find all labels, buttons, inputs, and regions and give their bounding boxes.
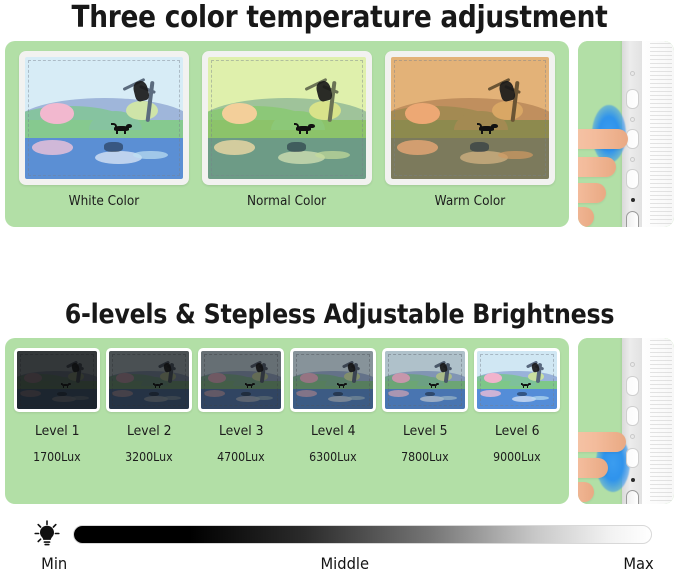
lightbulb-icon <box>34 520 60 548</box>
slider-label-min: Min <box>41 554 67 573</box>
brightness-slider-row[interactable] <box>0 520 679 548</box>
device-speaker-grille-2 <box>650 338 672 504</box>
color-temperature-row: White ColorNormal ColorWarm Color <box>0 41 679 227</box>
brightness-haze-overlay <box>385 351 465 409</box>
device-illustration <box>578 41 674 227</box>
brightness-haze-overlay <box>293 351 373 409</box>
landscape-artwork <box>25 57 183 179</box>
brightness-haze-overlay <box>17 351 97 409</box>
brightness-level-lux: 3200Lux <box>125 450 173 464</box>
brightness-level-card[interactable]: Level 11700Lux <box>14 348 100 504</box>
slider-label-middle: Middle <box>91 554 600 573</box>
photo-frame <box>19 51 189 185</box>
brightness-sample-image <box>201 351 281 409</box>
brightness-haze-overlay <box>201 351 281 409</box>
landscape-artwork <box>391 57 549 179</box>
brightness-level-lux: 7800Lux <box>401 450 449 464</box>
brightness-level-lux: 9000Lux <box>493 450 541 464</box>
device-hole-icon-2 <box>630 362 635 367</box>
level-photo-frame <box>198 348 284 412</box>
brightness-level-card[interactable]: Level 23200Lux <box>106 348 192 504</box>
color-temperature-label: White Color <box>69 194 140 209</box>
device-hole-icon <box>630 71 635 76</box>
level-photo-frame <box>382 348 468 412</box>
level-photo-frame <box>14 348 100 412</box>
device-panel-brightness <box>578 338 674 504</box>
hand-icon-2 <box>578 398 640 504</box>
brightness-row: Level 11700LuxLevel 23200LuxLevel 34700L… <box>0 338 679 504</box>
color-temperature-label: Warm Color <box>434 194 505 209</box>
device-button-1-b[interactable] <box>626 376 639 396</box>
brightness-slider-track[interactable] <box>73 525 652 544</box>
brightness-level-name: Level 5 <box>403 423 448 439</box>
color-sample-image <box>25 57 183 179</box>
color-temperature-card[interactable]: White Color <box>19 51 189 209</box>
brightness-level-list: Level 11700LuxLevel 23200LuxLevel 34700L… <box>5 338 569 504</box>
brightness-level-card[interactable]: Level 57800Lux <box>382 348 468 504</box>
brightness-level-card[interactable]: Level 34700Lux <box>198 348 284 504</box>
brightness-sample-image <box>385 351 465 409</box>
level-photo-frame <box>290 348 376 412</box>
slider-label-max: Max <box>623 554 653 573</box>
brightness-panel: Level 11700LuxLevel 23200LuxLevel 34700L… <box>5 338 569 504</box>
brightness-level-name: Level 3 <box>219 423 264 439</box>
section-title-brightness: 6-levels & Stepless Adjustable Brightnes… <box>41 299 639 330</box>
slider-labels: Min Middle Max <box>0 554 679 573</box>
brightness-level-name: Level 6 <box>495 423 540 439</box>
photo-frame <box>202 51 372 185</box>
brightness-level-name: Level 4 <box>311 423 356 439</box>
device-panel-color-temperature <box>578 41 674 227</box>
device-illustration-2 <box>578 338 674 504</box>
level-photo-frame <box>474 348 560 412</box>
brightness-level-lux: 6300Lux <box>309 450 357 464</box>
brightness-level-card[interactable]: Level 46300Lux <box>290 348 376 504</box>
brightness-sample-image <box>109 351 189 409</box>
color-temperature-card[interactable]: Warm Color <box>385 51 555 209</box>
brightness-level-name: Level 1 <box>35 423 80 439</box>
brightness-level-lux: 1700Lux <box>33 450 81 464</box>
brightness-haze-overlay <box>109 351 189 409</box>
device-speaker-grille <box>650 41 672 227</box>
brightness-haze-overlay <box>477 351 557 409</box>
color-temperature-card[interactable]: Normal Color <box>202 51 372 209</box>
device-button-1[interactable] <box>626 89 639 109</box>
section-title-color-temperature: Three color temperature adjustment <box>41 0 639 35</box>
landscape-artwork <box>208 57 366 179</box>
brightness-level-name: Level 2 <box>127 423 172 439</box>
color-sample-image <box>208 57 366 179</box>
photo-frame <box>385 51 555 185</box>
brightness-level-lux: 4700Lux <box>217 450 265 464</box>
color-sample-image <box>391 57 549 179</box>
color-temperature-panel: White ColorNormal ColorWarm Color <box>5 41 569 227</box>
color-card-list: White ColorNormal ColorWarm Color <box>5 41 569 227</box>
hand-icon <box>578 107 640 227</box>
brightness-sample-image <box>293 351 373 409</box>
brightness-sample-image <box>17 351 97 409</box>
brightness-level-card[interactable]: Level 69000Lux <box>474 348 560 504</box>
brightness-sample-image <box>477 351 557 409</box>
color-temperature-label: Normal Color <box>247 194 326 209</box>
level-photo-frame <box>106 348 192 412</box>
